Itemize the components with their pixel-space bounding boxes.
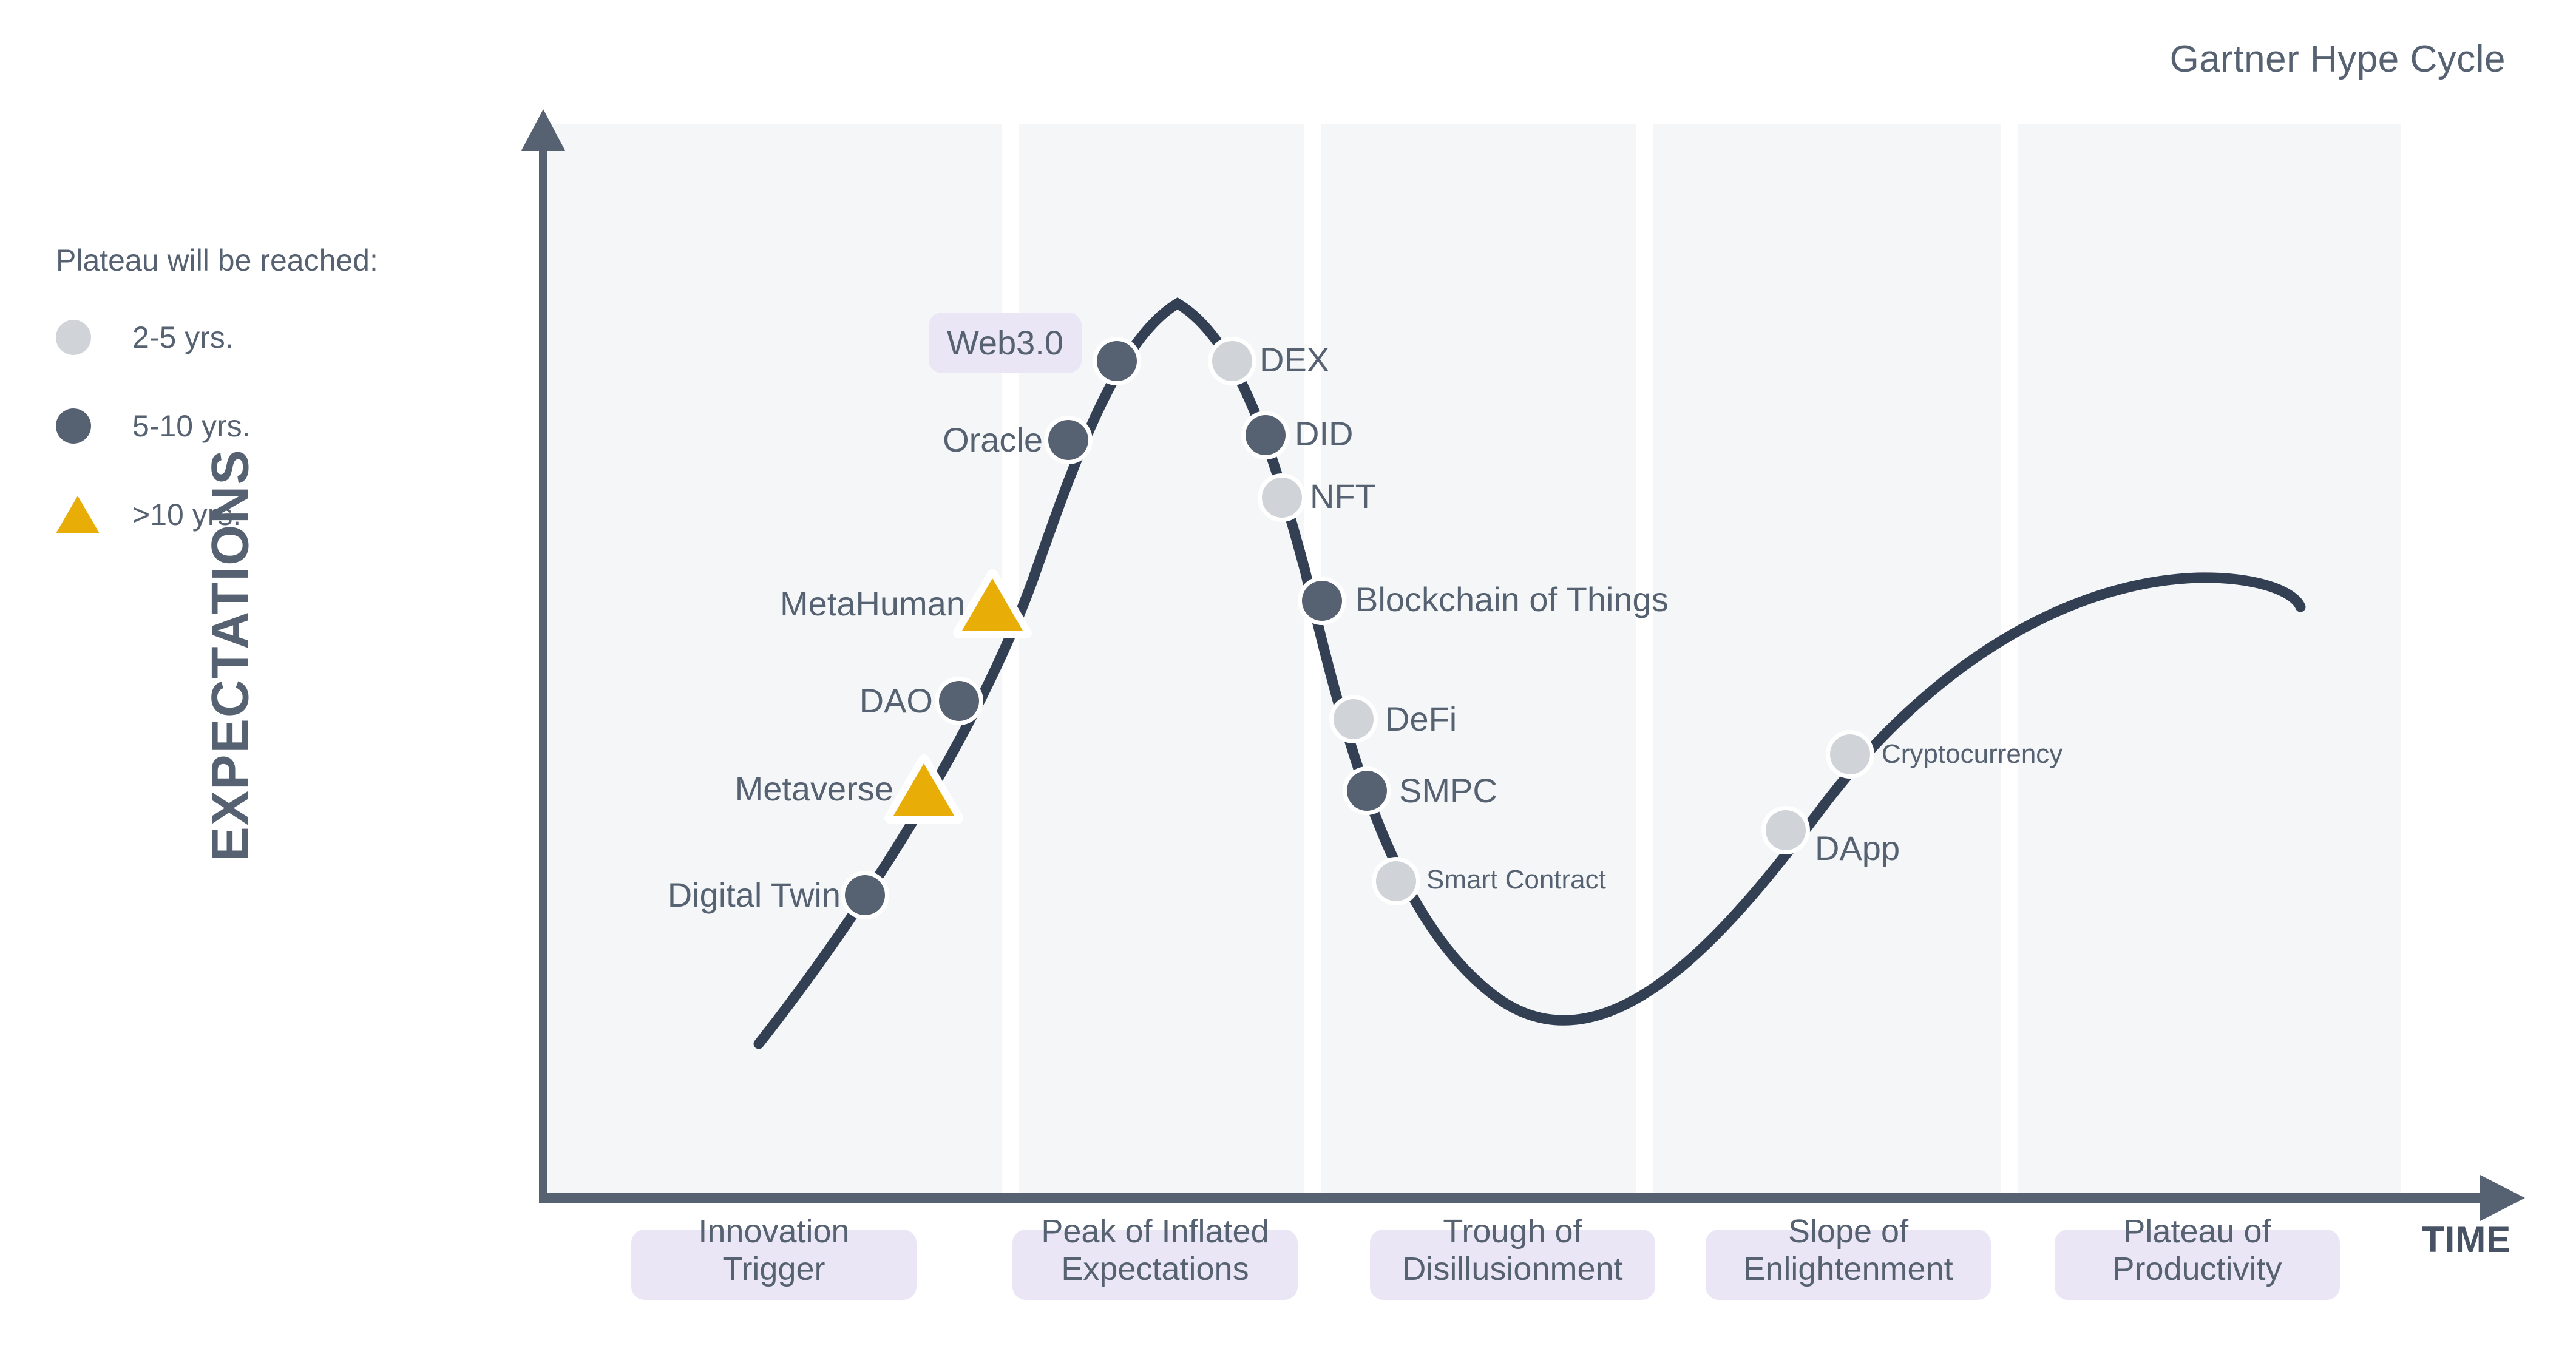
phase-label-plateau-of-productivity[interactable]: Plateau ofProductivity xyxy=(2033,1213,2361,1288)
point-label-did: DID xyxy=(1295,417,1353,451)
point-label-smart-contract: Smart Contract xyxy=(1426,867,1606,893)
point-label-dapp: DApp xyxy=(1815,831,1900,865)
phase-label-trough-of-disillusionment[interactable]: Trough ofDisillusionment xyxy=(1349,1213,1676,1288)
marker-metaverse[interactable] xyxy=(890,760,958,818)
marker-web3[interactable] xyxy=(1093,337,1141,385)
marker-smart-contract[interactable] xyxy=(1372,857,1420,905)
marker-digital-twin[interactable] xyxy=(841,871,889,919)
marker-blockchain-of-things[interactable] xyxy=(1298,577,1346,625)
phase-line1: Innovation xyxy=(698,1213,849,1250)
marker-dex[interactable] xyxy=(1208,337,1256,385)
circle-light-icon xyxy=(56,320,110,355)
phase-line1: Plateau of xyxy=(2123,1213,2271,1250)
point-label-defi: DeFi xyxy=(1385,702,1457,736)
marker-oracle[interactable] xyxy=(1044,416,1093,464)
phase-line2: Disillusionment xyxy=(1402,1251,1622,1287)
marker-smpc[interactable] xyxy=(1343,766,1391,815)
phase-label-innovation-trigger[interactable]: InnovationTrigger xyxy=(610,1213,938,1288)
marker-dao[interactable] xyxy=(935,677,983,725)
legend-title: Plateau will be reached: xyxy=(56,243,444,278)
point-label-dex: DEX xyxy=(1259,343,1329,377)
legend-item-label: 2-5 yrs. xyxy=(132,320,234,355)
phase-line1: Peak of Inflated xyxy=(1041,1213,1269,1250)
point-label-digital-twin: Digital Twin xyxy=(668,878,841,912)
point-label-nft: NFT xyxy=(1310,479,1376,513)
triangle-gold-icon xyxy=(56,496,110,533)
x-axis-label: TIME xyxy=(2422,1219,2511,1260)
point-label-cryptocurrency: Cryptocurrency xyxy=(1882,741,2062,768)
marker-metahuman[interactable] xyxy=(958,575,1026,633)
point-label-web3: Web3.0 xyxy=(929,313,1082,373)
circle-dark-icon xyxy=(56,408,110,444)
phase-line1: Slope of xyxy=(1788,1213,1908,1250)
phase-line1: Trough of xyxy=(1443,1213,1582,1250)
marker-cryptocurrency[interactable] xyxy=(1826,730,1874,779)
phase-line2: Productivity xyxy=(2112,1251,2282,1287)
phase-line2: Enlightenment xyxy=(1743,1251,1953,1287)
page-title: Gartner Hype Cycle xyxy=(2170,38,2506,81)
phase-label-slope-of-enlightenment[interactable]: Slope ofEnlightenment xyxy=(1684,1213,2012,1288)
marker-dapp[interactable] xyxy=(1761,806,1810,854)
marker-did[interactable] xyxy=(1241,411,1290,459)
point-label-smpc: SMPC xyxy=(1399,774,1497,808)
phase-line2: Trigger xyxy=(722,1251,825,1287)
point-label-blockchain-of-things: Blockchain of Things xyxy=(1355,583,1669,617)
point-label-metaverse: Metaverse xyxy=(735,772,893,806)
data-point-markers xyxy=(0,0,2576,1360)
marker-defi[interactable] xyxy=(1329,695,1378,743)
hype-cycle-chart: Gartner Hype Cycle Plateau will be reach… xyxy=(0,0,2576,1360)
marker-nft[interactable] xyxy=(1258,473,1306,522)
point-label-metahuman: MetaHuman xyxy=(780,587,965,621)
legend-item-2-5-yrs[interactable]: 2-5 yrs. xyxy=(56,308,444,367)
point-label-oracle: Oracle xyxy=(943,423,1043,457)
y-axis-label: EXPECTATIONS xyxy=(201,413,261,898)
phase-line2: Expectations xyxy=(1061,1251,1249,1287)
phase-label-peak-of-inflated-expectations[interactable]: Peak of InflatedExpectations xyxy=(991,1213,1319,1288)
point-label-dao: DAO xyxy=(859,684,933,718)
